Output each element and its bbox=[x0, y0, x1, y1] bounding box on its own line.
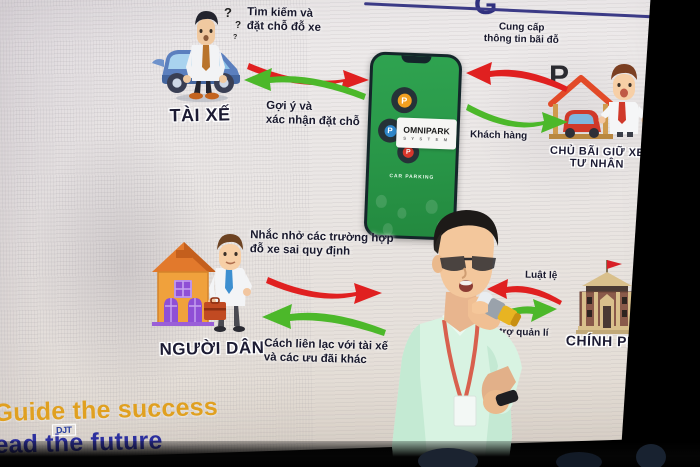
arrow-app-to-driver bbox=[238, 60, 370, 105]
presenter-person bbox=[380, 206, 555, 467]
photo-of-projected-slide: G bbox=[0, 0, 700, 467]
node-parking-owner-label: CHỦ BÃI GIỮ XE TƯ NHÂN bbox=[543, 146, 652, 172]
arrow-owner-to-app bbox=[462, 55, 572, 93]
stage-equipment-1 bbox=[418, 448, 478, 467]
app-name: OMNIPARK bbox=[403, 125, 450, 137]
slogan-line-1: Guide the success bbox=[0, 395, 218, 426]
app-subtitle: S Y S T E M bbox=[403, 136, 449, 143]
node-citizen-label: NGƯỜI DÂN bbox=[146, 339, 278, 359]
flow-label-app-to-owner: Khách hàng bbox=[470, 129, 528, 143]
omnipark-logo-card: OMNIPARK S Y S T E M bbox=[396, 117, 457, 149]
gear-letter-p-2: P bbox=[384, 124, 396, 136]
arrow-app-to-citizen bbox=[250, 298, 390, 340]
svg-text:?: ? bbox=[224, 5, 232, 20]
flow-label-driver-to-app: Tìm kiếm và đặt chỗ đỗ xe bbox=[247, 5, 322, 35]
gear-letter-p-3: P bbox=[403, 147, 414, 158]
gear-icon-orange: P bbox=[393, 89, 415, 111]
app-screen-caption: CAR PARKING bbox=[369, 172, 455, 181]
flow-label-citizen-to-app: Nhắc nhở các trường hợp đỗ xe sai quy đị… bbox=[250, 228, 394, 260]
gear-letter-p-1: P bbox=[397, 93, 412, 108]
stage-equipment-3 bbox=[636, 444, 666, 467]
stage-equipment-2 bbox=[556, 452, 602, 467]
flow-label-app-to-citizen: Cách liên lạc với tài xế và các ưu đãi k… bbox=[264, 336, 389, 367]
djt-watermark: DJT bbox=[52, 424, 76, 437]
svg-text:?: ? bbox=[233, 34, 237, 41]
flow-label-app-to-driver: Gợi ý và xác nhận đặt chỗ bbox=[266, 99, 361, 129]
arrow-app-to-owner bbox=[464, 96, 574, 134]
node-driver-label: TÀI XẾ bbox=[140, 105, 260, 126]
flow-label-owner-to-app: Cung cấp thông tin bãi đỗ bbox=[484, 21, 560, 47]
phone-notch bbox=[401, 55, 431, 63]
svg-text:?: ? bbox=[235, 20, 241, 31]
